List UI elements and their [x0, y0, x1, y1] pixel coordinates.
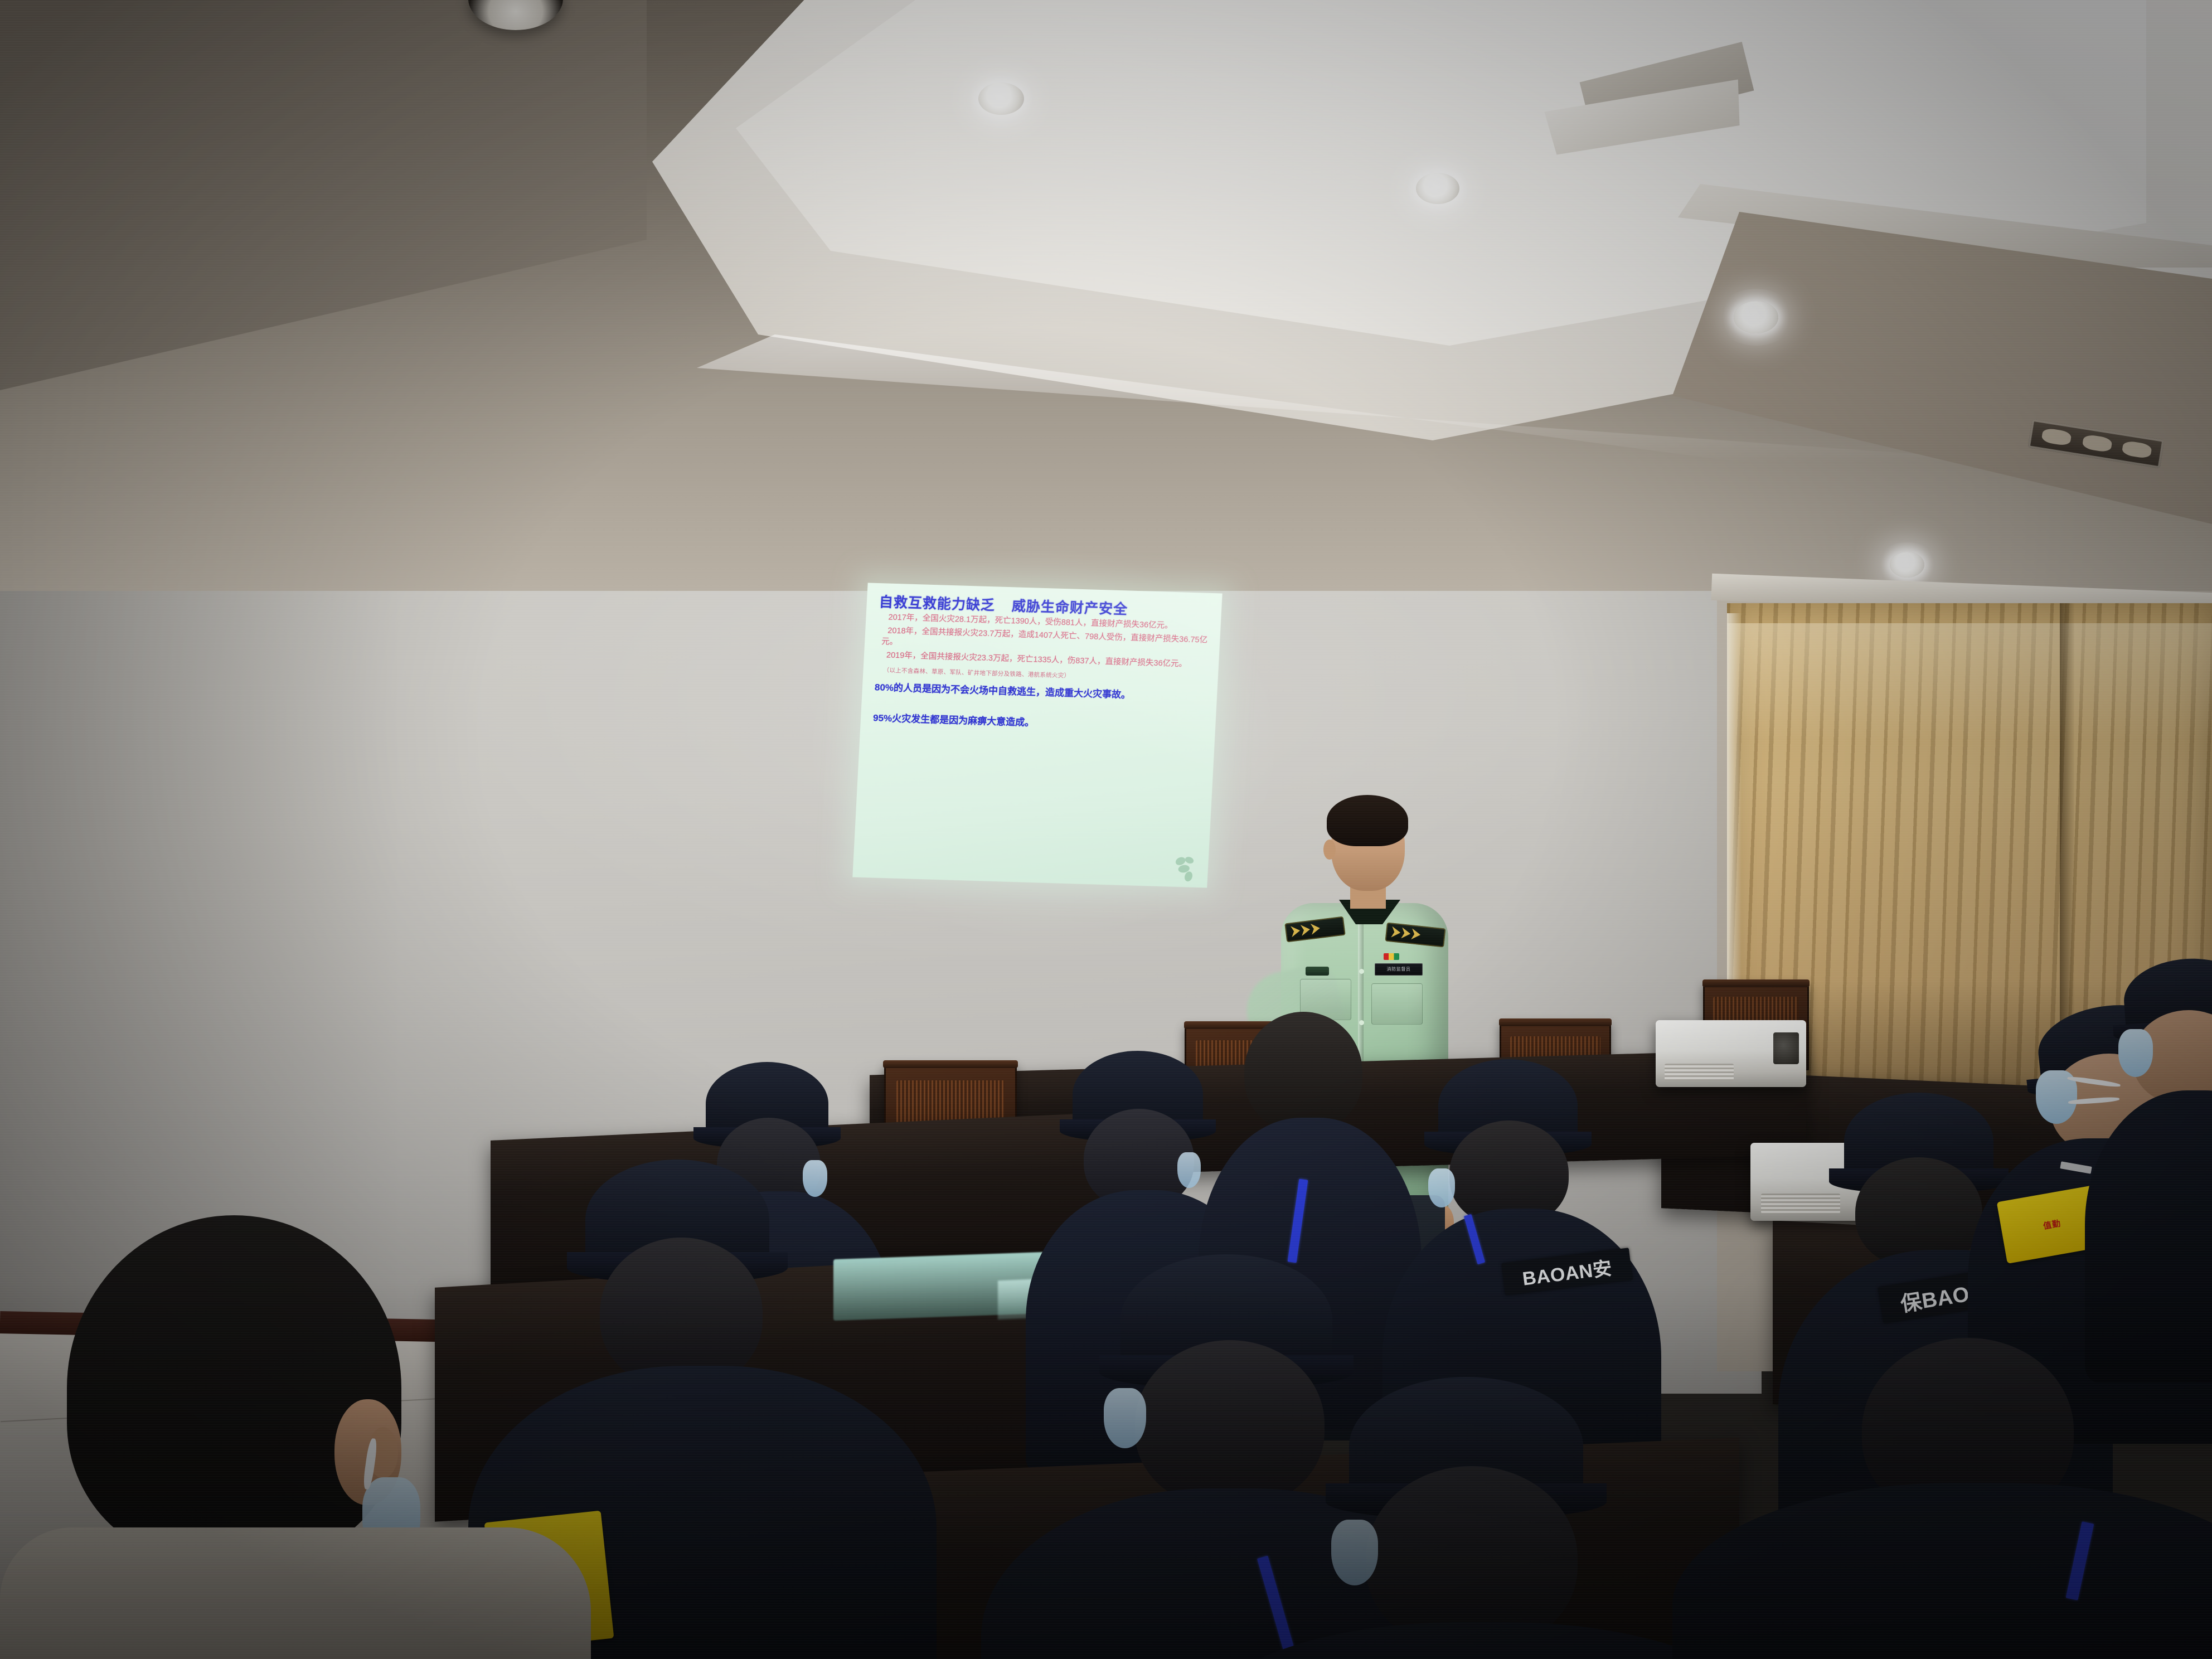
guard-head	[1244, 1012, 1362, 1132]
recessed-downlight-icon	[1734, 301, 1778, 333]
slide-highlight-95-text: 火灾发生都是因为麻痹大意造成。	[892, 713, 1035, 728]
presenter-ear	[1323, 840, 1336, 860]
face-mask-icon	[1331, 1520, 1378, 1585]
slide-title-right: 威胁生命财产安全	[1011, 595, 1128, 618]
leaf-watermark-icon	[1170, 852, 1201, 884]
presenter-hair	[1327, 795, 1408, 846]
attendee-shirt	[0, 1527, 591, 1659]
slide-statistics-list: 2017年，全国火灾28.1万起，死亡1390人，受伤881人，直接财产损失36…	[876, 612, 1211, 671]
slide-highlight-80-pct: 80%	[875, 682, 894, 693]
audience-member-guard	[1728, 1338, 2212, 1659]
armband-text: 值勤	[2042, 1217, 2061, 1231]
slide-title-left: 自救互救能力缺乏	[879, 591, 996, 614]
audience-member-guard	[2118, 959, 2212, 1382]
attendee-hair	[67, 1215, 401, 1561]
face-mask-icon	[2118, 1029, 2153, 1077]
presenter-nametag-text: 消防监督员	[1375, 963, 1423, 976]
slide-highlight-95: 95%火灾发生都是因为麻痹大意造成。	[873, 712, 1206, 734]
projected-slide: 自救互救能力缺乏 威胁生命财产安全 2017年，全国火灾28.1万起，死亡139…	[852, 583, 1222, 887]
face-mask-icon	[1104, 1388, 1146, 1448]
face-mask-icon	[1428, 1168, 1455, 1207]
foreground-attendee	[22, 1215, 613, 1659]
recessed-downlight-icon	[1416, 173, 1459, 204]
presenter-arm-patch	[1306, 967, 1329, 976]
projector-vent-icon	[1665, 1064, 1734, 1081]
slide-highlight-80-text: 的人员是因为不会火场中自救逃生，造成重大火灾事故。	[894, 682, 1131, 700]
projector-lens-icon	[1773, 1032, 1799, 1065]
projector-device[interactable]	[1656, 1020, 1806, 1087]
face-mask-icon	[1177, 1152, 1201, 1188]
slide-highlight-95-pct: 95%	[873, 712, 892, 724]
presenter-flag-badge-icon	[1384, 953, 1399, 960]
guard-torso	[1672, 1483, 2212, 1659]
recessed-downlight-icon	[1890, 552, 1924, 578]
slide-highlight-80: 80%的人员是因为不会火场中自救逃生，造成重大火灾事故。	[874, 682, 1207, 704]
meeting-room-photo: 自救互救能力缺乏 威胁生命财产安全 2017年，全国火灾28.1万起，死亡139…	[0, 0, 2212, 1659]
recessed-downlight-icon	[978, 83, 1024, 115]
presenter-nametag: 消防监督员	[1375, 963, 1423, 976]
audience-member-guard	[1238, 1377, 1728, 1659]
